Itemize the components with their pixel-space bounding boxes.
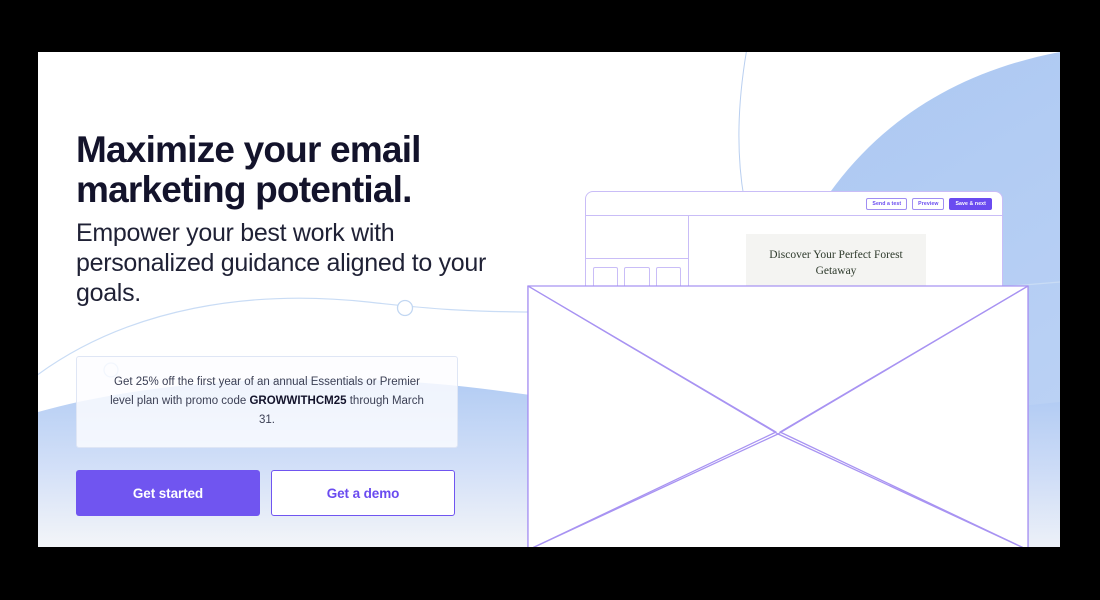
get-started-button[interactable]: Get started [76,470,260,516]
promo-banner: Get 25% off the first year of an annual … [76,356,458,448]
hero-section: Maximize your email marketing potential.… [76,130,506,547]
cta-button-row: Get started Get a demo [76,470,506,516]
screenshot-stage: Maximize your email marketing potential.… [0,0,1100,600]
tertiary-link-row: See it in action → [76,545,455,547]
landing-page: Maximize your email marketing potential.… [38,52,1060,547]
promo-text: Get 25% off the first year of an annual … [103,373,431,430]
envelope-illustration [518,122,1048,547]
see-it-in-action-link[interactable]: See it in action → [209,545,322,547]
hero-subheadline: Empower your best work with personalized… [76,218,506,308]
page-title: Maximize your email marketing potential. [76,130,506,209]
get-a-demo-button[interactable]: Get a demo [271,470,455,516]
promo-code: GROWWITHCM25 [249,395,346,407]
